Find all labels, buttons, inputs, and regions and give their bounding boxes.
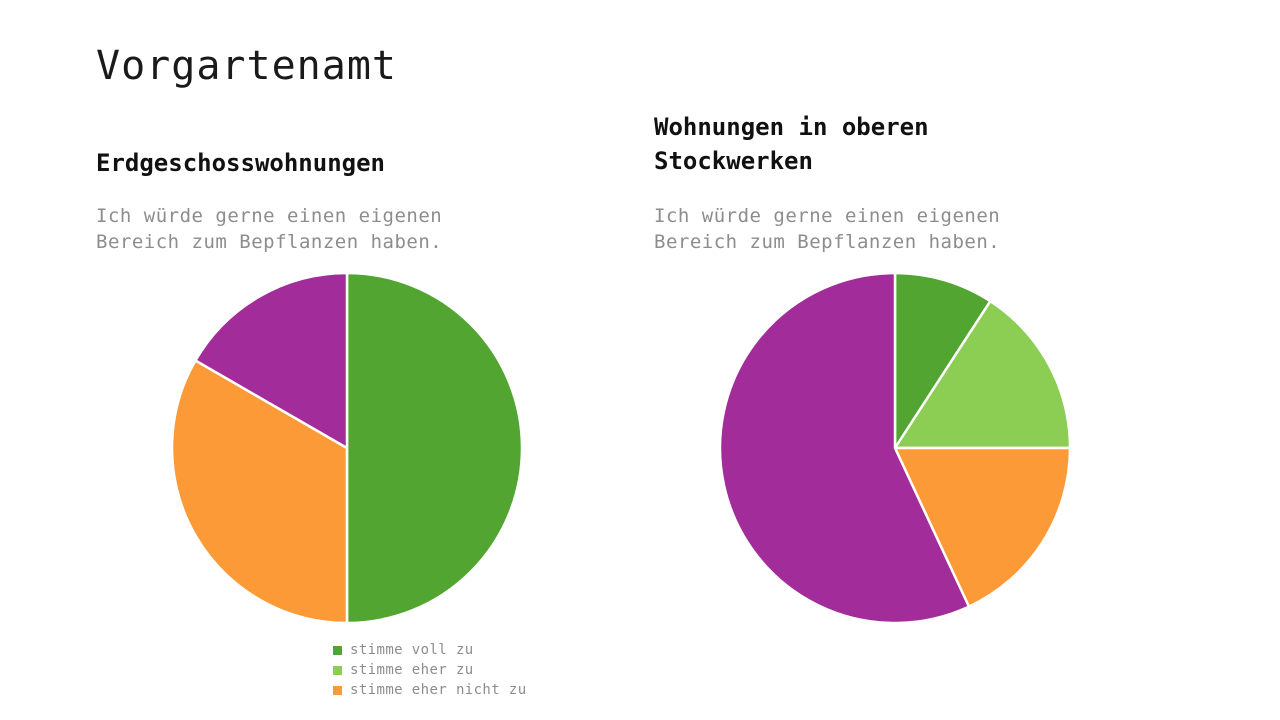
pie-slices-obere-stockwerke xyxy=(720,273,1070,623)
pie-chart-obere-stockwerke xyxy=(0,0,1280,720)
pie-svg-obere-stockwerke xyxy=(0,0,1280,720)
slide-canvas: Vorgartenamt Erdgeschosswohnungen Ich wü… xyxy=(0,0,1280,720)
panel-obere-stockwerke: Wohnungen in oberen Stockwerken Ich würd… xyxy=(640,0,1210,720)
